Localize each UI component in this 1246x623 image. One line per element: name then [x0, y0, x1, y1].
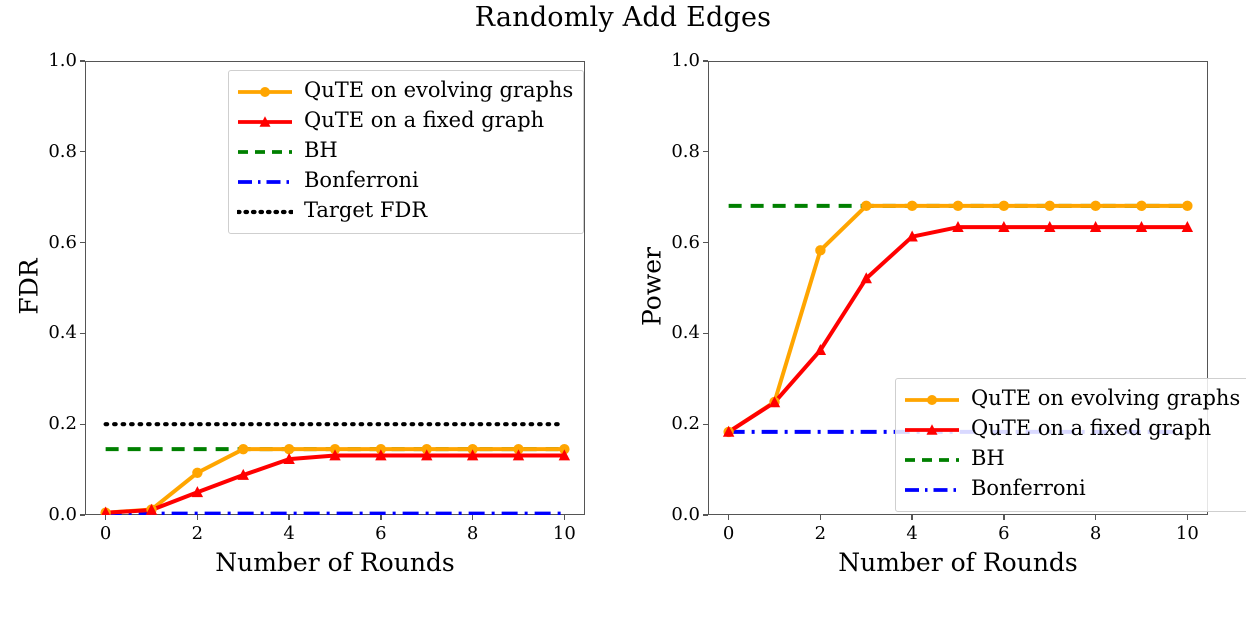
legend-item[interactable]: QuTE on a fixed graph — [904, 415, 1240, 445]
legend-label: Target FDR — [304, 200, 427, 224]
x-tick-mark — [288, 515, 289, 520]
legend-line-sample — [237, 141, 293, 163]
legend-label: BH — [304, 140, 338, 164]
x-tick-mark — [911, 515, 912, 520]
legend-line-sample — [237, 81, 293, 103]
y-tick-label: 0.0 — [654, 504, 700, 525]
y-tick-mark — [703, 60, 708, 61]
y-tick-label: 1.0 — [31, 50, 77, 71]
x-tick-mark — [1187, 515, 1188, 520]
data-point-circle — [861, 201, 871, 211]
x-tick-mark — [820, 515, 821, 520]
y-tick-mark — [80, 60, 85, 61]
panel-power: Power Number of Rounds QuTE on evolving … — [623, 0, 1246, 623]
data-point-circle — [284, 444, 294, 454]
legend-line-sample — [237, 171, 293, 193]
legend-label: Bonferroni — [304, 170, 419, 194]
x-tick-label: 8 — [443, 523, 503, 544]
legend-label: Bonferroni — [971, 478, 1086, 502]
legend-item[interactable]: Target FDR — [237, 197, 573, 227]
legend-line-sample — [904, 419, 960, 441]
y-tick-mark — [80, 424, 85, 425]
y-tick-mark — [80, 242, 85, 243]
legend-label: QuTE on a fixed graph — [971, 418, 1211, 442]
x-tick-label: 0 — [76, 523, 136, 544]
legend-line-sample — [237, 201, 293, 223]
x-tick-mark — [1003, 515, 1004, 520]
legend-item[interactable]: Bonferroni — [904, 475, 1240, 505]
series-line — [106, 456, 565, 513]
data-point-circle — [1182, 201, 1192, 211]
legend-line-sample — [904, 449, 960, 471]
x-tick-mark — [728, 515, 729, 520]
data-point-circle — [815, 245, 825, 255]
data-point-circle — [238, 444, 248, 454]
y-tick-label: 0.8 — [654, 141, 700, 162]
x-tick-label: 8 — [1066, 523, 1126, 544]
legend-label: QuTE on a fixed graph — [304, 110, 544, 134]
legend-line-sample — [904, 389, 960, 411]
y-tick-label: 0.4 — [31, 322, 77, 343]
legend-left: QuTE on evolving graphsQuTE on a fixed g… — [228, 70, 584, 234]
y-tick-mark — [703, 514, 708, 515]
legend-line-sample — [904, 479, 960, 501]
x-tick-label: 6 — [351, 523, 411, 544]
panel-fdr: FDR Number of Rounds QuTE on evolving gr… — [0, 0, 623, 623]
legend-item[interactable]: Bonferroni — [237, 167, 573, 197]
y-tick-label: 0.6 — [31, 232, 77, 253]
x-tick-mark — [472, 515, 473, 520]
legend-item[interactable]: QuTE on evolving graphs — [237, 77, 573, 107]
legend-item[interactable]: BH — [904, 445, 1240, 475]
figure-canvas: Randomly Add Edges FDR Number of Rounds … — [0, 0, 1246, 623]
legend-label: BH — [971, 448, 1005, 472]
x-tick-mark — [1095, 515, 1096, 520]
data-point-circle — [999, 201, 1009, 211]
data-point-circle — [1136, 201, 1146, 211]
data-point-circle — [953, 201, 963, 211]
legend-item[interactable]: BH — [237, 137, 573, 167]
data-point-circle — [192, 468, 202, 478]
x-tick-mark — [564, 515, 565, 520]
x-tick-mark — [105, 515, 106, 520]
legend-label: QuTE on evolving graphs — [304, 80, 573, 104]
x-tick-mark — [380, 515, 381, 520]
x-tick-label: 2 — [167, 523, 227, 544]
y-tick-label: 0.2 — [654, 413, 700, 434]
x-tick-label: 2 — [790, 523, 850, 544]
x-tick-label: 4 — [259, 523, 319, 544]
y-tick-mark — [80, 514, 85, 515]
y-tick-label: 0.8 — [31, 141, 77, 162]
y-tick-label: 1.0 — [654, 50, 700, 71]
legend-line-sample — [237, 111, 293, 133]
y-tick-mark — [80, 333, 85, 334]
legend-item[interactable]: QuTE on a fixed graph — [237, 107, 573, 137]
legend-item[interactable]: QuTE on evolving graphs — [904, 385, 1240, 415]
y-tick-label: 0.0 — [31, 504, 77, 525]
x-tick-mark — [197, 515, 198, 520]
data-point-circle — [907, 201, 917, 211]
y-tick-mark — [703, 151, 708, 152]
y-tick-mark — [703, 333, 708, 334]
x-tick-label: 10 — [1157, 523, 1217, 544]
data-point-circle — [1045, 201, 1055, 211]
x-tick-label: 6 — [974, 523, 1034, 544]
y-tick-mark — [703, 424, 708, 425]
legend-right: QuTE on evolving graphsQuTE on a fixed g… — [895, 378, 1246, 512]
x-tick-label: 0 — [699, 523, 759, 544]
y-tick-label: 0.2 — [31, 413, 77, 434]
y-tick-label: 0.4 — [654, 322, 700, 343]
x-tick-label: 4 — [882, 523, 942, 544]
legend-label: QuTE on evolving graphs — [971, 388, 1240, 412]
y-tick-mark — [703, 242, 708, 243]
x-tick-label: 10 — [534, 523, 594, 544]
data-point-circle — [1090, 201, 1100, 211]
y-tick-label: 0.6 — [654, 232, 700, 253]
y-tick-mark — [80, 151, 85, 152]
